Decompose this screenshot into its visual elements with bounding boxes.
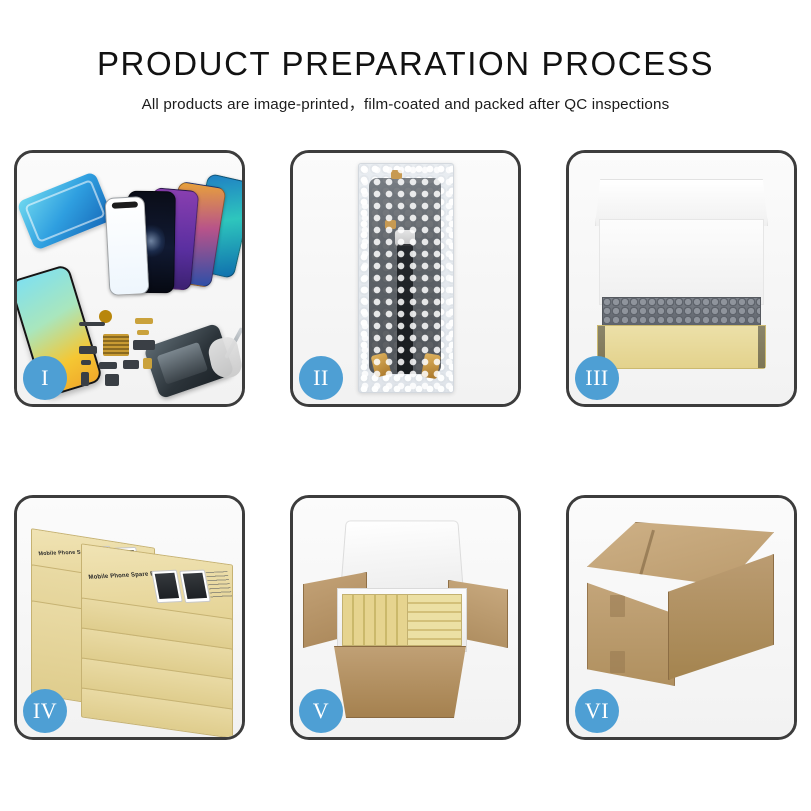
button-flex-icon: [99, 362, 117, 369]
gold-contact-right-icon: [421, 353, 441, 379]
page-subtitle: All products are image-printed，film-coat…: [0, 92, 811, 114]
step-badge-3: III: [575, 356, 619, 400]
sim-tray-icon: [143, 358, 152, 369]
tape-tab-mid-icon: [385, 220, 396, 229]
page-title: PRODUCT PREPARATION PROCESS: [0, 46, 811, 82]
ribbon-cable-icon: [79, 346, 97, 354]
connector-icon: [137, 330, 149, 335]
carton-tape-upper-icon: [610, 595, 625, 617]
step-panel-sealed-carton: VI: [566, 495, 797, 740]
step-badge-6: VI: [575, 689, 619, 733]
sealed-carton: [583, 518, 780, 717]
open-carton: [303, 514, 508, 719]
step-panel-retail-boxes: Mobile Phone Spare Parts Mobile Phone Sp…: [14, 495, 245, 740]
retail-box-front-speclist: [206, 571, 232, 598]
step-panel-inner-box-foam: III: [566, 150, 797, 407]
page-header: PRODUCT PREPARATION PROCESS All products…: [0, 0, 811, 114]
retail-box-front-phone-image-1: [151, 570, 183, 604]
step-panel-product-range: I: [14, 150, 245, 407]
vibrator-icon: [123, 360, 139, 369]
carton-tape-lower-icon: [610, 651, 625, 673]
box-front-panel-icon: [597, 325, 766, 369]
screen-protector-icon: [16, 171, 113, 251]
carton-left-face-icon: [587, 566, 675, 686]
retail-box-stack: Mobile Phone Spare Parts Mobile Phone Sp…: [29, 512, 230, 723]
shield-grid-icon: [103, 334, 129, 356]
screen-flex-cable-icon: [397, 244, 413, 374]
phone-glass-panel-icon: [104, 196, 149, 296]
sensor-icon: [81, 372, 89, 386]
step-badge-2: II: [299, 356, 343, 400]
phone-screen-fan: [105, 175, 245, 290]
step-panel-carton-packing: V: [290, 495, 521, 740]
packed-boxes-row-2: [407, 594, 462, 646]
carton-seam-icon: [636, 530, 655, 587]
product-preparation-page: PRODUCT PREPARATION PROCESS All products…: [0, 0, 811, 811]
camera-module-icon: [133, 340, 155, 350]
flex-cable-icon: [135, 318, 153, 324]
tape-tab-top-icon: [391, 170, 402, 179]
step-badge-4: IV: [23, 689, 67, 733]
charging-port-icon: [105, 374, 119, 386]
small-connector-icon: [81, 360, 91, 365]
foam-tray-icon: [337, 588, 467, 652]
process-steps-grid: I II: [14, 150, 797, 740]
spare-parts-cluster: [79, 308, 207, 394]
bubble-wrap-bag: [358, 163, 454, 393]
box-back-panel-icon: [599, 219, 764, 305]
step-badge-1: I: [23, 356, 67, 400]
step-panel-bubble-wrap: II: [290, 150, 521, 407]
open-inner-box: [589, 175, 774, 376]
carton-body-icon: [325, 646, 475, 718]
earpiece-mesh-icon: [79, 322, 105, 326]
step-badge-5: V: [299, 689, 343, 733]
